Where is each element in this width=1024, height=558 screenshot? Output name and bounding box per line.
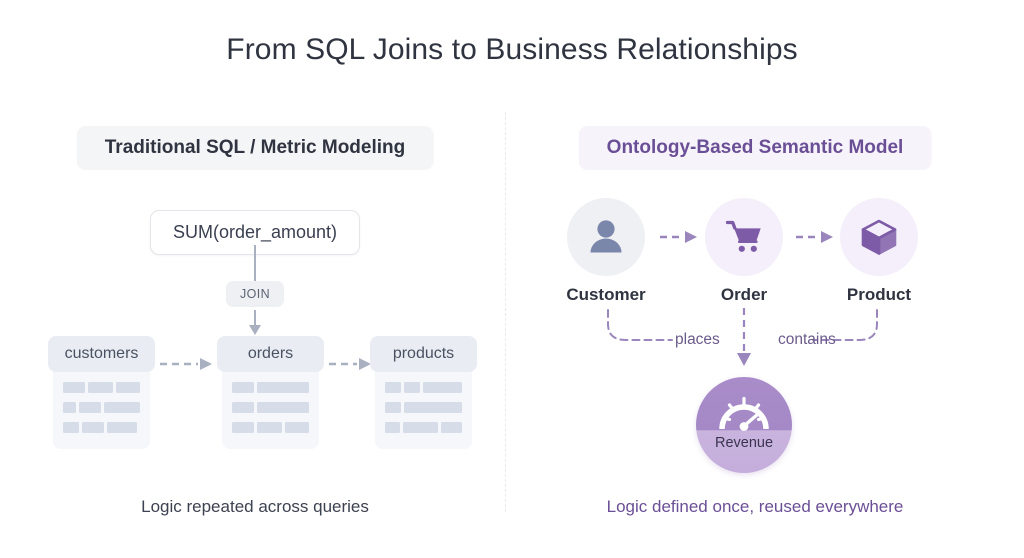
cube-icon	[856, 214, 902, 260]
join-badge: JOIN	[226, 281, 284, 307]
customers-to-orders-arrow	[160, 357, 216, 371]
table-row	[385, 382, 462, 393]
table-cell	[82, 422, 104, 433]
table-cell	[63, 422, 79, 433]
table-row	[63, 422, 140, 433]
table-cell	[385, 422, 400, 433]
table-row	[385, 422, 462, 433]
person-icon	[584, 215, 628, 259]
revenue-label: Revenue	[696, 435, 792, 451]
right-panel-header: Ontology-Based Semantic Model	[579, 126, 932, 170]
table-cell	[385, 382, 401, 393]
table-cell	[257, 382, 309, 393]
table-cell	[63, 402, 76, 413]
relationship-label-contains: contains	[778, 331, 836, 349]
shopping-cart-icon	[722, 215, 766, 259]
gauge-icon	[717, 393, 771, 433]
table-cell	[441, 422, 462, 433]
page-title: From SQL Joins to Business Relationships	[0, 33, 1024, 67]
order-to-revenue-arrow	[736, 308, 752, 372]
table-body-orders	[222, 368, 319, 449]
orders-to-products-arrow	[329, 357, 375, 371]
metric-to-join-connector	[247, 245, 263, 285]
table-cell	[285, 422, 309, 433]
table-cell	[403, 422, 438, 433]
table-cell	[404, 382, 420, 393]
revenue-circle: Revenue	[696, 377, 792, 473]
order-icon-circle	[705, 198, 783, 276]
panel-ontology-model: Ontology-Based Semantic Model Customer	[520, 112, 990, 532]
table-card-orders[interactable]: orders	[217, 336, 324, 449]
table-cell	[232, 382, 254, 393]
table-body-products	[375, 368, 472, 449]
table-cell	[88, 382, 112, 393]
table-row	[232, 382, 309, 393]
entity-node-order[interactable]: Order	[690, 198, 798, 305]
table-row	[232, 402, 309, 413]
table-row	[232, 422, 309, 433]
entity-label-product: Product	[825, 285, 933, 305]
table-body-customers	[53, 368, 150, 449]
relationship-label-places: places	[675, 331, 720, 349]
entity-node-product[interactable]: Product	[825, 198, 933, 305]
table-cell	[63, 382, 85, 393]
panel-traditional-sql: Traditional SQL / Metric Modeling SUM(or…	[20, 112, 490, 532]
table-cell	[423, 382, 462, 393]
diagram-canvas: From SQL Joins to Business Relationships…	[0, 0, 1024, 558]
table-cell	[257, 402, 309, 413]
entity-label-customer: Customer	[552, 285, 660, 305]
table-cell	[404, 402, 462, 413]
entity-label-order: Order	[690, 285, 798, 305]
panel-divider	[505, 112, 506, 512]
table-title-customers: customers	[48, 336, 155, 372]
table-row	[385, 402, 462, 413]
customer-icon-circle	[567, 198, 645, 276]
table-title-products: products	[370, 336, 477, 372]
left-panel-caption: Logic repeated across queries	[20, 497, 490, 517]
table-cell	[116, 382, 140, 393]
table-cell	[257, 422, 282, 433]
left-panel-header: Traditional SQL / Metric Modeling	[77, 126, 434, 170]
table-cell	[232, 402, 254, 413]
table-row	[63, 382, 140, 393]
table-cell	[107, 422, 137, 433]
product-icon-circle	[840, 198, 918, 276]
table-cell	[232, 422, 254, 433]
table-card-products[interactable]: products	[370, 336, 477, 449]
entity-node-customer[interactable]: Customer	[552, 198, 660, 305]
table-row	[63, 402, 140, 413]
table-title-orders: orders	[217, 336, 324, 372]
table-cell	[79, 402, 100, 413]
metric-node-revenue[interactable]: Revenue	[696, 377, 792, 473]
table-cell	[385, 402, 401, 413]
table-cell	[104, 402, 140, 413]
table-card-customers[interactable]: customers	[48, 336, 155, 449]
right-panel-caption: Logic defined once, reused everywhere	[520, 497, 990, 517]
